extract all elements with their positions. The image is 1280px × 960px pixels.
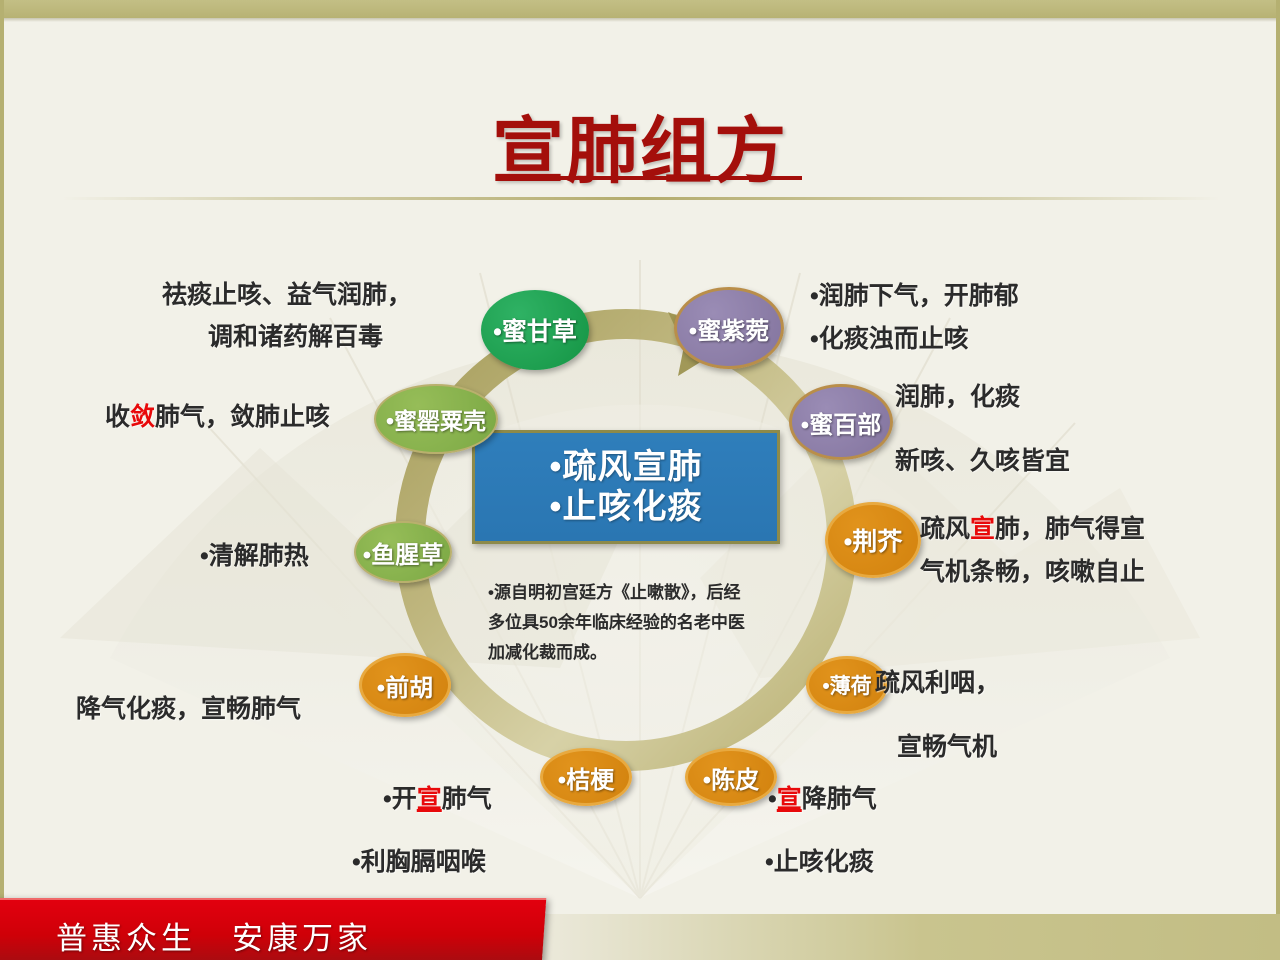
annotation-bo-he-line1: 疏风利咽， bbox=[875, 664, 1000, 703]
annotation-bo-he-line2: 宣畅气机 bbox=[897, 728, 997, 767]
annotation-jie-geng-line2: •利胸膈咽喉 bbox=[352, 843, 486, 882]
node-mi-zi-wan[interactable]: •蜜紫菀 bbox=[674, 287, 784, 369]
node-yu-xing-cao[interactable]: •鱼腥草 bbox=[354, 521, 452, 583]
node-mi-gan-cao[interactable]: •蜜甘草 bbox=[481, 290, 589, 370]
highlight-char: 宣 bbox=[777, 785, 802, 813]
node-label: •蜜甘草 bbox=[493, 312, 577, 348]
page-title: 宣肺组方 bbox=[0, 92, 1280, 197]
annotation-text: 疏风 bbox=[920, 515, 970, 543]
node-label: •蜜紫菀 bbox=[689, 311, 769, 346]
annotation-chen-pi-line1: •宣降肺气 bbox=[768, 780, 877, 819]
slide-root: 宣肺组方 •疏风宣肺 •止咳化痰 •源自明初宫廷方《止嗽散》，后经多位具50余年… bbox=[0, 0, 1280, 960]
node-label: •陈皮 bbox=[703, 760, 759, 795]
footer-slogan: 普惠众生安康万家 bbox=[56, 913, 408, 958]
annotation-text: 降肺气 bbox=[802, 785, 877, 813]
center-line-2: •止咳化痰 bbox=[550, 487, 703, 527]
annotation-text: 肺气 bbox=[442, 785, 492, 813]
center-summary-box: •疏风宣肺 •止咳化痰 bbox=[472, 430, 780, 544]
node-label: •蜜罂粟壳 bbox=[386, 402, 486, 436]
annotation-bai-bu-line1: 润肺，化痰 bbox=[895, 378, 1020, 417]
node-label: •桔梗 bbox=[558, 760, 614, 795]
annotation-jing-jie-line1: 疏风宣肺，肺气得宣 bbox=[920, 510, 1145, 549]
annotation-jing-jie-line2: 气机条畅，咳嗽自止 bbox=[920, 553, 1145, 592]
annotation-text: 收 bbox=[105, 403, 130, 431]
annotation-jie-geng-line1: •开宣肺气 bbox=[383, 780, 492, 819]
header-divider bbox=[62, 197, 1220, 200]
annotation-text: 肺，肺气得宣 bbox=[995, 515, 1145, 543]
center-line-1: •疏风宣肺 bbox=[550, 447, 703, 487]
top-band-shadow bbox=[0, 18, 1280, 22]
top-decor-band bbox=[0, 0, 1280, 18]
annotation-qian-hu: 降气化痰，宣畅肺气 bbox=[76, 690, 301, 729]
node-jie-geng[interactable]: •桔梗 bbox=[540, 748, 632, 806]
annotation-bai-bu-line2: 新咳、久咳皆宜 bbox=[895, 442, 1070, 481]
annotation-gan-cao-line2: 调和诸药解百毒 bbox=[208, 318, 383, 357]
highlight-char: 宣 bbox=[970, 515, 995, 543]
annotation-zi-wan-line1: •润肺下气，开肺郁 bbox=[810, 277, 1019, 316]
node-mi-bai-bu[interactable]: •蜜百部 bbox=[789, 384, 893, 460]
footer-slogan-left: 普惠众生 bbox=[56, 921, 196, 956]
annotation-gan-cao-line1: 祛痰止咳、益气润肺， bbox=[162, 276, 412, 315]
highlight-char: 敛 bbox=[130, 403, 155, 431]
node-mi-ying-su-ke[interactable]: •蜜罂粟壳 bbox=[374, 384, 498, 454]
origin-note: •源自明初宫廷方《止嗽散》，后经多位具50余年临床经验的名老中医加减化裁而成。 bbox=[488, 578, 756, 667]
node-chen-pi[interactable]: •陈皮 bbox=[685, 748, 777, 806]
annotation-chen-pi-line2: •止咳化痰 bbox=[765, 843, 874, 882]
annotation-yu-xing-cao: •清解肺热 bbox=[200, 537, 309, 576]
node-label: •蜜百部 bbox=[801, 405, 881, 440]
title-underline bbox=[506, 176, 802, 180]
footer-slogan-right: 安康万家 bbox=[232, 921, 372, 956]
annotation-text: •开 bbox=[383, 785, 417, 813]
annotation-text: • bbox=[768, 785, 777, 813]
node-qian-hu[interactable]: •前胡 bbox=[359, 653, 451, 717]
node-label: •薄荷 bbox=[822, 670, 871, 700]
node-label: •前胡 bbox=[377, 668, 433, 703]
highlight-char: 宣 bbox=[417, 785, 442, 813]
annotation-zi-wan-line2: •化痰浊而止咳 bbox=[810, 320, 969, 359]
node-label: •荆芥 bbox=[844, 522, 903, 558]
annotation-ying-su-ke: 收敛肺气，敛肺止咳 bbox=[105, 398, 330, 437]
node-jing-jie[interactable]: •荆芥 bbox=[825, 502, 921, 578]
annotation-text: 肺气，敛肺止咳 bbox=[155, 403, 330, 431]
node-label: •鱼腥草 bbox=[363, 535, 443, 570]
